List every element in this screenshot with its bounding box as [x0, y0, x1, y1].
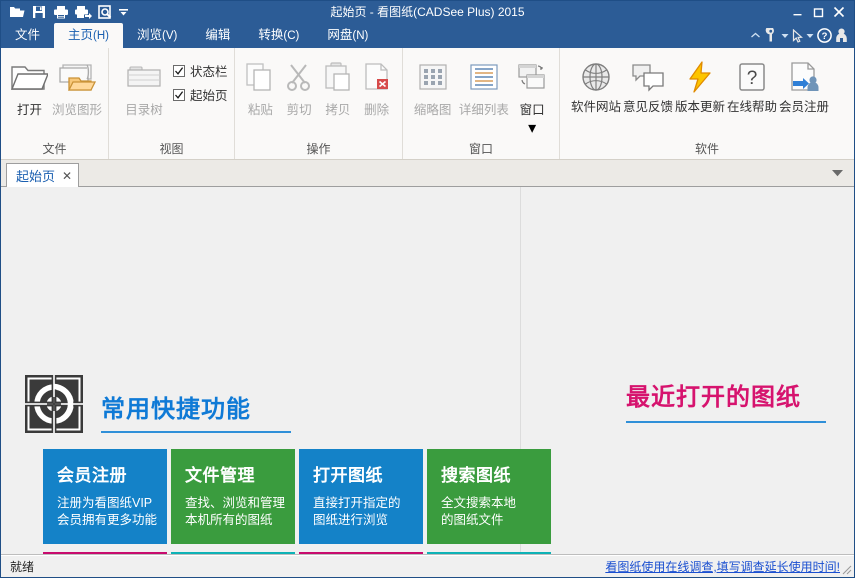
- application-window: 起始页 - 看图纸(CADSee Plus) 2015 文件 主页(H) 浏览(…: [0, 0, 855, 578]
- delete-icon: [362, 57, 392, 97]
- ribbon-button-version-update-label: 版本更新: [675, 96, 725, 115]
- ribbon-group-actions-title: 操作: [235, 141, 402, 159]
- ribbon-group-software-title: 软件: [560, 141, 854, 159]
- ribbon-tab-convert-label: 转换: [258, 28, 283, 42]
- tile-open-drawing-title: 打开图纸: [313, 461, 423, 486]
- tile-open-drawing[interactable]: 打开图纸 直接打开指定的 图纸进行浏览: [299, 449, 423, 544]
- tile-file-management-desc: 查找、浏览和管理 本机所有的图纸: [185, 495, 295, 529]
- print-preview-icon[interactable]: [95, 3, 115, 21]
- user-account-icon[interactable]: [835, 26, 848, 46]
- cursor-icon[interactable]: [792, 26, 803, 46]
- start-page-content: 常用快捷功能 最近打开的图纸 会员注册 注册为看图纸VIP 会员拥有更多功能 文…: [1, 187, 854, 555]
- open-icon[interactable]: [7, 3, 27, 21]
- tile-search-drawing-desc: 全文搜索本地 的图纸文件: [441, 495, 551, 529]
- open-folder-icon: [10, 57, 48, 97]
- feedback-bubbles-icon: [631, 59, 665, 95]
- checkbox-status-bar-box[interactable]: [173, 65, 185, 77]
- ribbon-button-directory-tree-label: 目录树: [125, 99, 163, 118]
- wrench-dropdown-icon[interactable]: [781, 26, 789, 46]
- tile-member-register-desc: 注册为看图纸VIP 会员拥有更多功能: [57, 495, 167, 529]
- ribbon-group-file-body: 打开 浏览图形: [1, 48, 108, 141]
- ribbon-button-online-help-label: 在线帮助: [727, 96, 777, 115]
- tile-file-management-title: 文件管理: [185, 461, 295, 486]
- ribbon-button-online-help[interactable]: ? 在线帮助: [726, 53, 778, 115]
- tile-member-register[interactable]: 会员注册 注册为看图纸VIP 会员拥有更多功能: [43, 449, 167, 544]
- ribbon-button-website-label: 软件网站: [571, 96, 621, 115]
- print-send-icon[interactable]: [73, 3, 93, 21]
- ribbon-button-feedback-label: 意见反馈: [623, 96, 673, 115]
- recent-title: 最近打开的图纸: [626, 377, 826, 412]
- ribbon-tab-view-label: 浏览: [137, 28, 162, 42]
- help-circle-icon[interactable]: ?: [817, 26, 832, 46]
- ribbon-group-view-title: 视图: [109, 141, 234, 159]
- ribbon-view-checkbox-group: 状态栏 起始页: [173, 53, 228, 104]
- ribbon-group-window-title: 窗口: [403, 141, 559, 159]
- directory-tree-icon: [126, 57, 162, 97]
- tile-search-drawing-title: 搜索图纸: [441, 461, 551, 486]
- status-message: 就绪: [10, 558, 34, 575]
- ribbon-button-feedback[interactable]: 意见反馈: [622, 53, 674, 115]
- svg-text:?: ?: [747, 68, 758, 89]
- ribbon-group-actions: 粘贴 剪切: [235, 48, 403, 159]
- tile-member-register-title: 会员注册: [57, 461, 167, 486]
- ribbon-group-window-body: 缩略图 详细列表: [403, 48, 559, 141]
- ribbon-group-software-body: 软件网站 意见反馈: [560, 48, 854, 141]
- tile-file-management[interactable]: 文件管理 查找、浏览和管理 本机所有的图纸: [171, 449, 295, 544]
- tile-search-drawing[interactable]: 搜索图纸 全文搜索本地 的图纸文件: [427, 449, 551, 544]
- shortcuts-title-rule: [101, 431, 291, 433]
- ribbon-button-window-label: 窗口: [520, 99, 545, 118]
- member-register-icon: [788, 59, 820, 95]
- checkbox-start-page[interactable]: 起始页: [173, 85, 228, 104]
- ribbon-group-view: 目录树 状态栏 起始页: [109, 48, 235, 159]
- ribbon-group-view-body: 目录树 状态栏 起始页: [109, 48, 234, 141]
- ribbon-button-window[interactable]: 窗口 ▾: [511, 53, 553, 138]
- minimize-button[interactable]: [787, 3, 807, 21]
- maximize-button[interactable]: [808, 3, 828, 21]
- ribbon-button-copy-label: 拷贝: [325, 99, 350, 118]
- ribbon-tab-view-mnemonic: (V): [162, 30, 177, 42]
- title-bar: 起始页 - 看图纸(CADSee Plus) 2015: [1, 1, 854, 23]
- ribbon-panel: 打开 浏览图形 文件: [1, 48, 854, 160]
- ribbon-tab-file-label: 文件: [15, 28, 40, 42]
- recent-section-header: 最近打开的图纸: [626, 377, 826, 423]
- cadsee-target-logo: [25, 375, 83, 433]
- ribbon-button-paste-label: 粘贴: [248, 99, 273, 118]
- question-mark-icon: ?: [737, 59, 767, 95]
- ribbon-button-website[interactable]: 软件网站: [570, 53, 622, 115]
- ribbon-tab-view[interactable]: 浏览(V): [123, 23, 191, 48]
- ribbon-button-browse-graphics-label: 浏览图形: [52, 99, 102, 118]
- ribbon-button-open-label: 打开: [17, 99, 42, 118]
- window-arrange-icon: [516, 57, 548, 97]
- collapse-ribbon-icon[interactable]: [750, 26, 761, 46]
- recent-title-rule: [626, 421, 826, 423]
- ribbon-button-delete[interactable]: 删除: [357, 53, 396, 118]
- ribbon-tab-convert[interactable]: 转换(C): [244, 23, 313, 48]
- print-icon[interactable]: [51, 3, 71, 21]
- shortcut-tiles: 会员注册 注册为看图纸VIP 会员拥有更多功能 文件管理 查找、浏览和管理 本机…: [43, 449, 551, 555]
- ribbon-tab-netdisk[interactable]: 网盘(N): [313, 23, 382, 48]
- ribbon-button-thumbnail-label: 缩略图: [414, 99, 452, 118]
- ribbon-tab-edit[interactable]: 编辑: [191, 23, 244, 48]
- ribbon-tab-bar: 文件 主页(H) 浏览(V) 编辑 转换(C) 网盘(N) ?: [1, 23, 854, 48]
- checkbox-status-bar[interactable]: 状态栏: [173, 61, 228, 80]
- ribbon-tab-home[interactable]: 主页(H): [54, 23, 123, 48]
- thumbnail-grid-icon: [418, 57, 448, 97]
- ribbon-button-open[interactable]: 打开: [7, 53, 52, 118]
- window-dropdown-icon[interactable]: ▾: [528, 118, 536, 138]
- ribbon-tab-edit-label: 编辑: [205, 28, 230, 42]
- ribbon-button-member-register[interactable]: 会员注册: [778, 53, 830, 115]
- ribbon-button-copy[interactable]: 拷贝: [319, 53, 358, 118]
- ribbon-button-thumbnail[interactable]: 缩略图: [409, 53, 456, 118]
- ribbon-button-paste[interactable]: 粘贴: [241, 53, 280, 118]
- ribbon-tab-home-label: 主页: [68, 28, 93, 42]
- checkbox-start-page-box[interactable]: [173, 89, 185, 101]
- ribbon-tab-home-mnemonic: (H): [93, 30, 109, 42]
- ribbon-button-delete-label: 删除: [364, 99, 389, 118]
- document-tab-strip: 起始页 ✕: [1, 160, 854, 187]
- ribbon-button-member-register-label: 会员注册: [779, 96, 829, 115]
- close-button[interactable]: [829, 3, 849, 21]
- ribbon-tab-netdisk-label: 网盘: [327, 28, 352, 42]
- lightning-bolt-icon: [687, 59, 713, 95]
- globe-icon: [580, 59, 612, 95]
- cut-scissors-icon: [284, 57, 314, 97]
- cursor-dropdown-icon[interactable]: [806, 26, 814, 46]
- ribbon-tab-file[interactable]: 文件: [1, 23, 54, 48]
- quick-access-toolbar: [1, 3, 130, 21]
- ribbon-group-file: 打开 浏览图形 文件: [1, 48, 109, 159]
- document-tab-start-page[interactable]: 起始页 ✕: [6, 163, 79, 187]
- wrench-icon[interactable]: [764, 26, 778, 46]
- ribbon-button-cut-label: 剪切: [287, 99, 312, 118]
- ribbon-button-version-update[interactable]: 版本更新: [674, 53, 726, 115]
- paste-icon: [244, 57, 276, 97]
- chevron-down-icon[interactable]: [831, 164, 844, 182]
- resize-grip[interactable]: [839, 562, 852, 575]
- status-survey-link[interactable]: 看图纸使用在线调查,填写调查延长使用时间!: [605, 558, 840, 575]
- ribbon-group-window: 缩略图 详细列表: [403, 48, 560, 159]
- save-icon[interactable]: [29, 3, 49, 21]
- shortcuts-title: 常用快捷功能: [101, 389, 291, 424]
- ribbon-group-file-title: 文件: [1, 141, 108, 159]
- close-icon[interactable]: ✕: [62, 170, 72, 182]
- browse-graphics-icon: [57, 57, 97, 97]
- copy-icon: [323, 57, 353, 97]
- ribbon-button-detail-list[interactable]: 详细列表: [456, 53, 511, 118]
- ribbon-group-software: 软件网站 意见反馈: [560, 48, 854, 159]
- window-controls: [787, 3, 854, 21]
- svg-text:?: ?: [822, 31, 828, 42]
- ribbon-button-browse-graphics[interactable]: 浏览图形: [52, 53, 102, 118]
- ribbon-right-controls: ?: [750, 23, 854, 48]
- shortcuts-section-header: 常用快捷功能: [25, 375, 291, 433]
- tile-open-drawing-desc: 直接打开指定的 图纸进行浏览: [313, 495, 423, 529]
- ribbon-button-cut[interactable]: 剪切: [280, 53, 319, 118]
- checkbox-status-bar-label: 状态栏: [190, 61, 228, 80]
- ribbon-tab-convert-mnemonic: (C): [283, 30, 299, 42]
- ribbon-group-actions-body: 粘贴 剪切: [235, 48, 402, 141]
- status-bar: 就绪 看图纸使用在线调查,填写调查延长使用时间!: [1, 555, 854, 577]
- ribbon-button-directory-tree[interactable]: 目录树: [115, 53, 173, 118]
- document-tab-start-page-label: 起始页: [16, 166, 55, 185]
- ribbon-button-detail-list-label: 详细列表: [459, 99, 509, 118]
- detail-list-icon: [469, 57, 499, 97]
- checkbox-start-page-label: 起始页: [190, 85, 228, 104]
- shortcuts-title-wrap: 常用快捷功能: [101, 389, 291, 433]
- quick-access-dropdown-icon[interactable]: [117, 3, 130, 21]
- ribbon-tab-netdisk-mnemonic: (N): [352, 30, 368, 42]
